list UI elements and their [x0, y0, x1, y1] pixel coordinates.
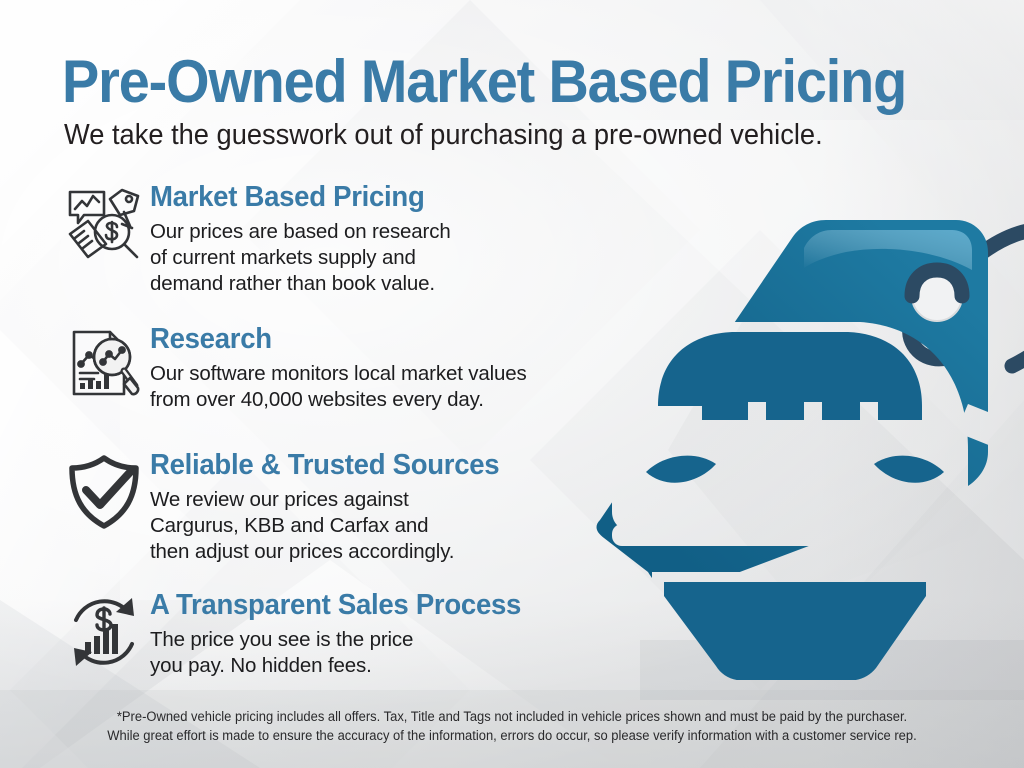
- feature-body-line: of current markets supply and: [150, 245, 620, 271]
- feature-body-line: Our software monitors local market value…: [150, 361, 620, 387]
- page-title: Pre-Owned Market Based Pricing: [62, 52, 906, 112]
- feature-heading: Reliable & Trusted Sources: [150, 450, 597, 480]
- feature-body: Our software monitors local market value…: [150, 361, 620, 413]
- disclaimer-footer: *Pre-Owned vehicle pricing includes all …: [20, 707, 1003, 745]
- feature-body-line: Our prices are based on research: [150, 219, 620, 245]
- feature-text: Market Based Pricing Our prices are base…: [150, 182, 620, 297]
- feature-body-line: from over 40,000 websites every day.: [150, 387, 620, 413]
- feature-body-line: We review our prices against: [150, 487, 620, 513]
- feature-body-line: then adjust our prices accordingly.: [150, 539, 620, 565]
- feature-text: Reliable & Trusted Sources We review our…: [150, 450, 620, 565]
- feature-body-line: The price you see is the price: [150, 627, 620, 653]
- feature-body-line: demand rather than book value.: [150, 271, 620, 297]
- feature-text: A Transparent Sales Process The price yo…: [150, 590, 620, 679]
- infographic-page: Pre-Owned Market Based Pricing We take t…: [0, 0, 1024, 768]
- feature-body: The price you see is the price you pay. …: [150, 627, 620, 679]
- document-magnifier-icon: [62, 324, 146, 408]
- refresh-dollar-chart-icon: [62, 590, 146, 674]
- market-research-chart-icon: [62, 182, 146, 266]
- disclaimer-line: While great effort is made to ensure the…: [20, 726, 1003, 745]
- feature-body-line: Cargurus, KBB and Carfax and: [150, 513, 620, 539]
- content-layer: Pre-Owned Market Based Pricing We take t…: [0, 0, 1024, 768]
- feature-heading: Research: [150, 324, 597, 354]
- feature-body-line: you pay. No hidden fees.: [150, 653, 620, 679]
- feature-text: Research Our software monitors local mar…: [150, 324, 620, 413]
- feature-body: Our prices are based on research of curr…: [150, 219, 620, 297]
- feature-heading: Market Based Pricing: [150, 182, 597, 212]
- shield-check-icon: [62, 450, 146, 534]
- page-subtitle: We take the guesswork out of purchasing …: [64, 120, 823, 152]
- feature-body: We review our prices against Cargurus, K…: [150, 487, 620, 565]
- feature-heading: A Transparent Sales Process: [150, 590, 597, 620]
- disclaimer-line: *Pre-Owned vehicle pricing includes all …: [20, 707, 1003, 726]
